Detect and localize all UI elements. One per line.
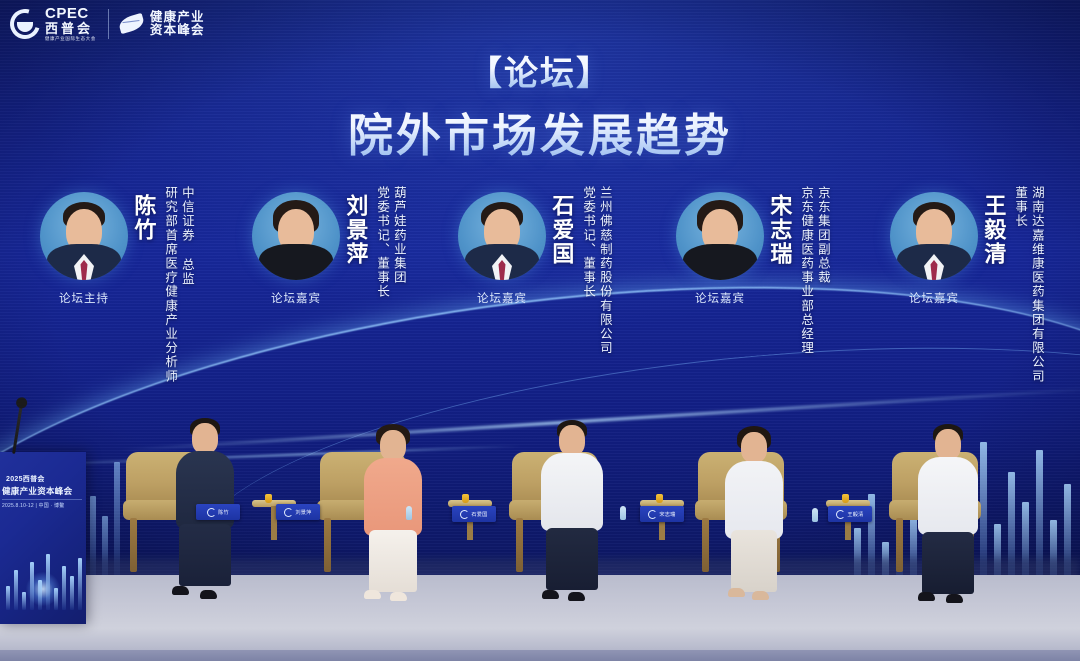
water-bottle <box>620 506 626 520</box>
nameplate-name: 陈竹 <box>218 509 229 516</box>
logo-cpec-sub: 健康产业国际生态大会 <box>45 37 96 41</box>
speaker-name: 石爱国 <box>550 194 573 266</box>
speaker-title-line: 湖南达嘉维康医药集团有限公司 <box>1029 186 1043 383</box>
podium-rule <box>2 499 82 500</box>
podium-line3: 2025.8.10-12 | 中国 · 博鳌 <box>2 502 86 509</box>
speaker-name: 宋志瑞 <box>768 194 791 266</box>
speaker-name: 王毅清 <box>982 194 1005 266</box>
speaker-name: 刘景萍 <box>344 194 367 266</box>
speaker-title-line: 党委书记、董事长 <box>374 186 388 299</box>
drink-cup <box>842 494 849 503</box>
cpec-circle-logo-icon <box>284 508 293 517</box>
cpec-circle-logo-icon <box>460 510 469 519</box>
nameplate: 石爱国 <box>452 506 496 522</box>
header-logo-bar: CPEC 西普会 健康产业国际生态大会 健康产业 资本峰会 <box>0 0 420 48</box>
nameplate: 王毅清 <box>828 506 872 522</box>
nameplate: 陈竹 <box>196 504 240 520</box>
nameplate-name: 宋志瑞 <box>659 511 675 518</box>
nameplate-name: 石爱国 <box>471 511 487 518</box>
speaker-role: 论坛嘉宾 <box>252 290 340 306</box>
avatar <box>890 192 978 280</box>
panelist-wang-yiqing <box>902 424 994 622</box>
logo-cpec-latin: CPEC <box>45 6 96 21</box>
leaf-icon <box>119 14 145 34</box>
cpec-circle-logo-icon <box>648 510 657 519</box>
speaker-role: 论坛嘉宾 <box>676 290 764 306</box>
speaker-title-line: 京东健康医药事业部总经理 <box>798 186 812 355</box>
panelist-liu-jingping <box>348 424 438 619</box>
nameplate-name: 王毅清 <box>847 511 863 518</box>
logo-divider <box>108 9 109 39</box>
speaker-title-line: 兰州佛慈制药股份有限公司 <box>597 186 611 355</box>
speaker-role: 论坛嘉宾 <box>890 290 978 306</box>
speaker-card-shi-aiguo: 论坛嘉宾 石爱国 兰州佛慈制药股份有限公司 党委书记、董事长 <box>458 180 611 355</box>
speaker-titles: 湖南达嘉维康医药集团有限公司 董事长 <box>1009 186 1043 383</box>
speaker-card-chen-zhu: 论坛主持 陈竹 中信证券 总监 研究部首席医疗健康产业分析师 <box>40 180 193 383</box>
water-bottle <box>812 508 818 522</box>
speaker-name: 陈竹 <box>132 194 155 242</box>
speaker-lineup: 论坛主持 陈竹 中信证券 总监 研究部首席医疗健康产业分析师 论坛嘉宾 刘景萍 … <box>0 180 1080 410</box>
forum-title-block: 【论坛】 院外市场发展趋势 <box>0 46 1080 164</box>
speaker-titles: 京东集团副总裁 京东健康医药事业部总经理 <box>795 186 829 355</box>
speaker-card-song-zhirui: 论坛嘉宾 宋志瑞 京东集团副总裁 京东健康医药事业部总经理 <box>676 180 829 355</box>
forum-label: 【论坛】 <box>0 46 1080 95</box>
page-title: 院外市场发展趋势 <box>0 99 1080 164</box>
panelist-song-zhirui <box>710 426 798 618</box>
podium-line2: 健康产业资本峰会 <box>2 485 86 497</box>
podium-bar-motif <box>4 544 82 610</box>
speaker-card-wang-yiqing: 论坛嘉宾 王毅清 湖南达嘉维康医药集团有限公司 董事长 <box>890 180 1043 383</box>
speaker-title-line: 葫芦娃药业集团 <box>391 186 405 299</box>
avatar <box>40 192 128 280</box>
nameplate: 刘景萍 <box>276 504 320 520</box>
cpec-circle-logo-icon <box>10 9 40 39</box>
avatar <box>458 192 546 280</box>
cpec-circle-logo-icon <box>836 510 845 519</box>
podium-line1: 2025西普会 <box>6 474 82 484</box>
drink-cup <box>265 494 272 503</box>
conference-stage-screenshot: CPEC 西普会 健康产业国际生态大会 健康产业 资本峰会 【论坛】 院外市场发… <box>0 0 1080 661</box>
avatar <box>676 192 764 280</box>
podium-banner: 2025西普会 健康产业资本峰会 2025.8.10-12 | 中国 · 博鳌 <box>0 452 86 624</box>
logo-summit-line1: 健康产业 <box>150 11 205 25</box>
microphone-stand-icon <box>12 404 23 454</box>
avatar <box>252 192 340 280</box>
nameplate: 宋志瑞 <box>640 506 684 522</box>
drink-cup <box>462 494 469 503</box>
panelist-shi-aiguo <box>524 420 620 620</box>
speaker-titles: 葫芦娃药业集团 党委书记、董事长 <box>371 186 405 299</box>
drink-cup <box>656 494 663 503</box>
cpec-circle-logo-icon <box>207 508 216 517</box>
speaker-title-line: 党委书记、董事长 <box>580 186 594 355</box>
speaker-role: 论坛嘉宾 <box>458 290 546 306</box>
logo-cpec-chinese: 西普会 <box>45 22 96 35</box>
speaker-title-line: 京东集团副总裁 <box>815 186 829 355</box>
nameplate-name: 刘景萍 <box>295 509 311 516</box>
water-bottle <box>406 506 412 520</box>
logo-health-capital-summit: 健康产业 资本峰会 <box>119 11 205 38</box>
speaker-card-liu-jingping: 论坛嘉宾 刘景萍 葫芦娃药业集团 党委书记、董事长 <box>252 180 405 299</box>
speaker-title-line: 董事长 <box>1012 186 1026 383</box>
logo-summit-line2: 资本峰会 <box>150 24 205 38</box>
speaker-title-line: 中信证券 总监 <box>179 186 193 383</box>
speaker-titles: 中信证券 总监 研究部首席医疗健康产业分析师 <box>159 186 193 383</box>
speaker-role: 论坛主持 <box>40 290 128 306</box>
logo-cpec: CPEC 西普会 健康产业国际生态大会 <box>0 6 96 41</box>
speaker-title-line: 研究部首席医疗健康产业分析师 <box>162 186 176 383</box>
speaker-titles: 兰州佛慈制药股份有限公司 党委书记、董事长 <box>577 186 611 355</box>
